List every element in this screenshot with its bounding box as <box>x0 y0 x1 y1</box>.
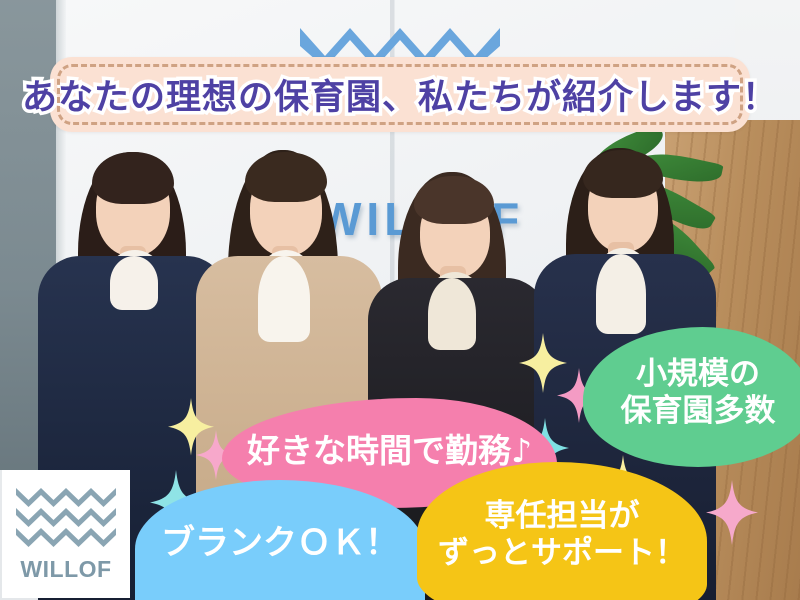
bubble-line: 好きな時間で勤務♪ <box>247 432 532 475</box>
headline-text: あなたの理想の保育園、私たちが紹介します！ <box>50 57 750 132</box>
bubble-line: 保育園多数 <box>621 393 776 430</box>
headline-ribbon: あなたの理想の保育園、私たちが紹介します！ <box>50 57 750 132</box>
willof-wordmark: WILLOF <box>20 556 111 583</box>
banner-canvas: WILLOF <box>0 0 800 600</box>
bubble-line: ブランクＯＫ！ <box>161 523 399 563</box>
willof-logo-card: WILLOF <box>2 470 130 598</box>
bubble-line: 専任担当が <box>485 498 640 535</box>
willof-zigzag-icon <box>16 486 116 548</box>
bubble-line: 小規模の <box>636 356 760 393</box>
bubble-line: ずっとサポート！ <box>438 535 686 572</box>
